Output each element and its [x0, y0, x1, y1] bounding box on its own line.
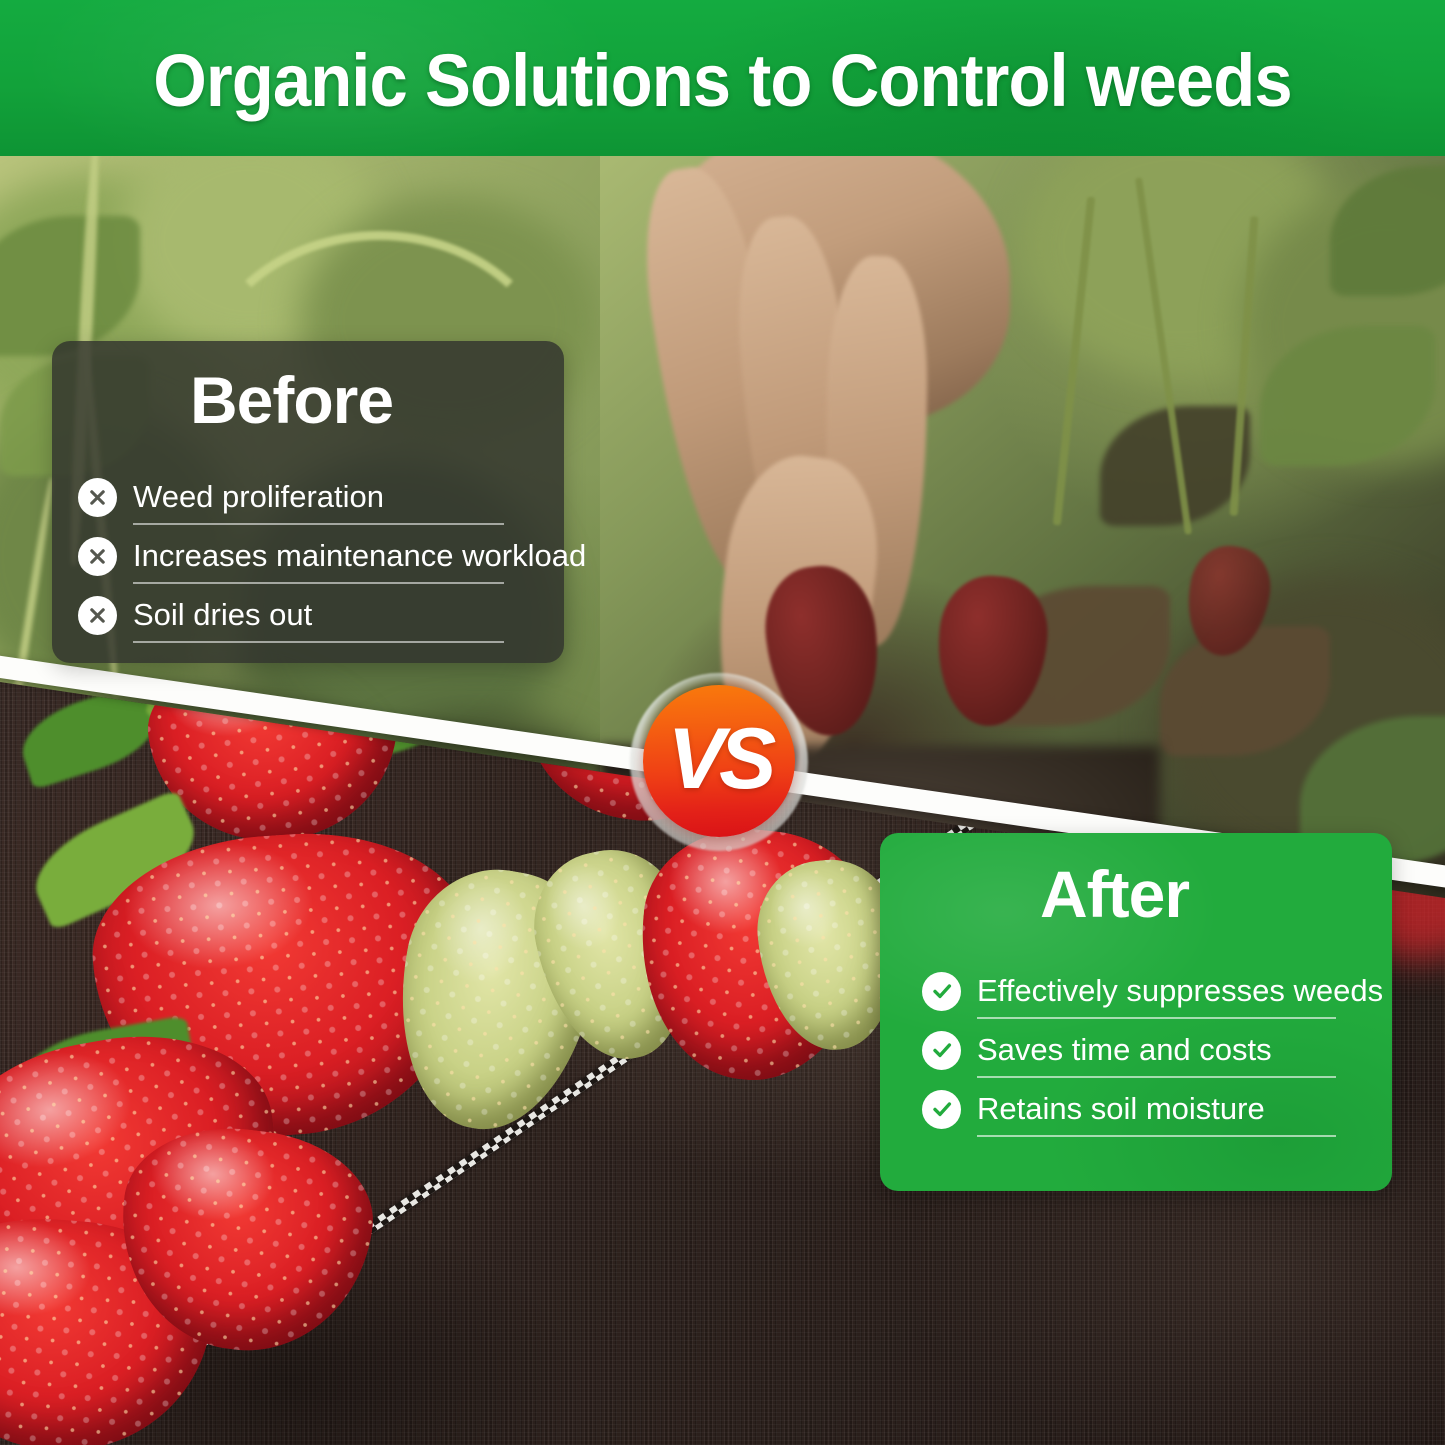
before-list: Weed proliferation Increases maintenance… [78, 471, 546, 648]
list-item-label: Retains soil moisture [977, 1092, 1265, 1126]
list-item: Saves time and costs [922, 1024, 1374, 1076]
header-banner: Organic Solutions to Control weeds [0, 0, 1445, 156]
after-title: After [1040, 861, 1189, 927]
list-item-label: Soil dries out [133, 598, 312, 632]
cross-icon [78, 478, 117, 517]
vs-badge: VS [630, 673, 808, 851]
item-divider [977, 1017, 1336, 1019]
infographic-canvas: Organic Solutions to Control weeds Befor… [0, 0, 1445, 1445]
list-item-label: Saves time and costs [977, 1033, 1272, 1067]
list-item: Effectively suppresses weeds [922, 965, 1374, 1017]
item-divider [133, 582, 504, 584]
item-divider [977, 1076, 1336, 1078]
item-divider [133, 523, 504, 525]
list-item-label: Effectively suppresses weeds [977, 974, 1383, 1008]
list-item: Soil dries out [78, 589, 546, 641]
cross-icon [78, 537, 117, 576]
after-list: Effectively suppresses weeds Saves time … [922, 965, 1374, 1142]
list-item: Weed proliferation [78, 471, 546, 523]
before-title: Before [190, 367, 393, 433]
cross-icon [78, 596, 117, 635]
vs-badge-icon: VS [643, 685, 795, 837]
page-title: Organic Solutions to Control weeds [51, 44, 1395, 118]
check-icon [922, 1031, 961, 1070]
vs-badge-label: VS [668, 716, 771, 802]
item-divider [977, 1135, 1336, 1137]
leaf-shape [1330, 166, 1445, 296]
check-icon [922, 1090, 961, 1129]
after-panel: After Effectively suppresses weeds Saves [880, 833, 1392, 1191]
list-item: Retains soil moisture [922, 1083, 1374, 1135]
list-item: Increases maintenance workload [78, 530, 546, 582]
check-icon [922, 972, 961, 1011]
list-item-label: Weed proliferation [133, 480, 384, 514]
before-panel: Before Weed proliferation Increases main… [52, 341, 564, 663]
list-item-label: Increases maintenance workload [133, 539, 586, 573]
item-divider [133, 641, 504, 643]
